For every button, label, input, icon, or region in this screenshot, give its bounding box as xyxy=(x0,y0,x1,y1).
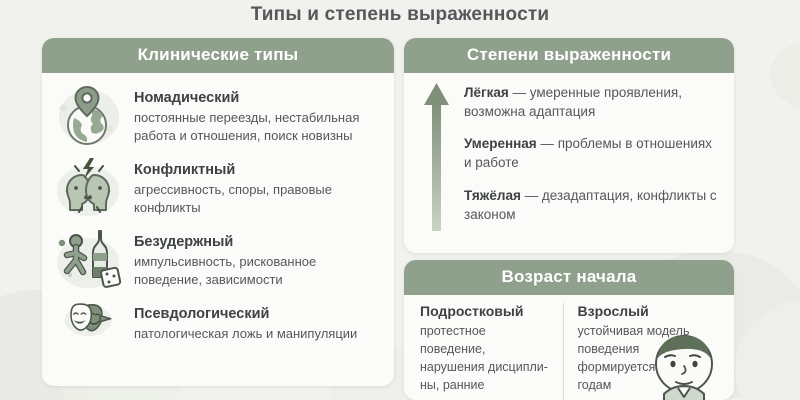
running-man-bottle-dice-icon xyxy=(52,227,124,293)
onset-column-adult: Взрослый устойчивая модель поведения фор… xyxy=(563,303,721,400)
page-title: Типы и степень выраженности xyxy=(0,4,800,26)
list-item: Безудержный импульсивность, рискованное … xyxy=(52,227,382,293)
clinical-types-list: Номадический постоянные переезды, нестаб… xyxy=(42,73,394,365)
onset-age-body: Подростковый протестное поведение, наруш… xyxy=(404,295,734,400)
background-blob xyxy=(770,40,800,110)
background-blob xyxy=(735,300,800,400)
severity-list: Лёгкая — умеренные проявления, возможна … xyxy=(464,83,718,233)
onset-column-title: Подростковый xyxy=(420,303,553,319)
type-description: постоянные переезды, нестабильная работа… xyxy=(134,109,382,145)
severity-label: Лёгкая xyxy=(464,85,509,100)
onset-column-description: протестное поведение, нарушения дисципли… xyxy=(420,322,553,400)
theater-masks-icon xyxy=(52,299,124,365)
type-name: Безудержный xyxy=(134,233,382,251)
list-item-text: Безудержный импульсивность, рискованное … xyxy=(134,227,382,289)
severity-dash: — xyxy=(509,85,530,100)
list-item: Умеренная — проблемы в отношениях и рабо… xyxy=(464,134,718,172)
severity-dash: — xyxy=(537,136,558,151)
severity-card: Степени выраженности Лёгкая — умеренные … xyxy=(404,38,734,253)
onset-age-header: Возраст начала xyxy=(404,260,734,295)
list-item-text: Конфликтный агрессивность, споры, правов… xyxy=(134,155,382,217)
severity-label: Умеренная xyxy=(464,136,537,151)
onset-column-title: Взрослый xyxy=(578,303,711,319)
onset-column-description: устойчивая модель поведения формируется … xyxy=(578,322,711,395)
type-name: Псевдологический xyxy=(134,305,357,323)
clinical-types-header: Клинические типы xyxy=(42,38,394,73)
arguing-heads-icon xyxy=(52,155,124,221)
severity-body: Лёгкая — умеренные проявления, возможна … xyxy=(404,73,734,233)
type-description: патологическая ложь и манипуляции xyxy=(134,325,357,343)
type-name: Номадический xyxy=(134,89,382,107)
type-description: импульсивность, рискованное поведение, з… xyxy=(134,253,382,289)
clinical-types-card: Клинические типы Номадический постоянные… xyxy=(42,38,394,386)
severity-header: Степени выраженности xyxy=(404,38,734,73)
list-item-text: Номадический постоянные переезды, нестаб… xyxy=(134,83,382,145)
list-item: Псевдологический патологическая ложь и м… xyxy=(52,299,382,365)
onset-column-adolescent: Подростковый протестное поведение, наруш… xyxy=(420,303,563,400)
globe-location-pin-icon xyxy=(52,83,124,149)
onset-age-card: Возраст начала Подростковый протестное п… xyxy=(404,260,734,400)
severity-dash: — xyxy=(521,188,542,203)
list-item: Номадический постоянные переезды, нестаб… xyxy=(52,83,382,149)
list-item-text: Псевдологический патологическая ложь и м… xyxy=(134,299,357,343)
severity-label: Тяжёлая xyxy=(464,188,521,203)
list-item: Лёгкая — умеренные проявления, возможна … xyxy=(464,83,718,121)
type-description: агрессивность, споры, правовые конфликты xyxy=(134,181,382,217)
list-item: Конфликтный агрессивность, споры, правов… xyxy=(52,155,382,221)
up-arrow-icon xyxy=(422,83,452,233)
list-item: Тяжёлая — дезадаптация, конфликты с зако… xyxy=(464,186,718,224)
type-name: Конфликтный xyxy=(134,161,382,179)
